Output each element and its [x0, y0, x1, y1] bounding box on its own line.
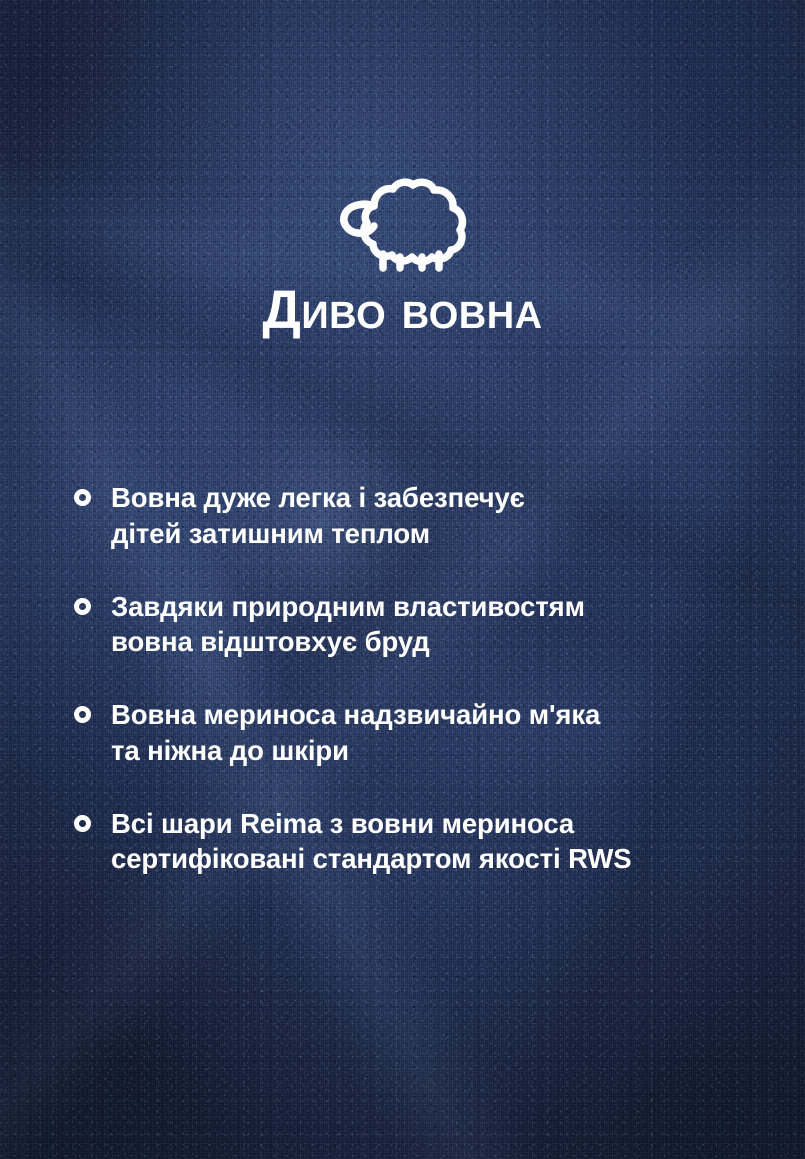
sheep-icon: [0, 178, 805, 272]
list-item-label: Всі шари Reima з вовни мериноса сертифік…: [111, 806, 632, 878]
bullet-ring-icon: [74, 706, 91, 723]
wool-feature-poster: Диво вовна Вовна дуже легка і забезпечує…: [0, 0, 805, 1159]
list-item-label: Вовна дуже легка і забезпечує дітей зати…: [111, 480, 525, 552]
list-item: Завдяки природним властивостям вовна від…: [74, 589, 764, 661]
page-title: Диво вовна: [0, 283, 805, 337]
list-item: Всі шари Reima з вовни мериноса сертифік…: [74, 806, 764, 878]
list-item-label: Вовна мериноса надзвичайно м'яка та ніжн…: [111, 697, 600, 769]
feature-list: Вовна дуже легка і забезпечує дітей зати…: [74, 480, 764, 877]
bullet-ring-icon: [74, 489, 91, 506]
list-item: Вовна дуже легка і забезпечує дітей зати…: [74, 480, 764, 552]
list-item: Вовна мериноса надзвичайно м'яка та ніжн…: [74, 697, 764, 769]
bullet-ring-icon: [74, 815, 91, 832]
list-item-label: Завдяки природним властивостям вовна від…: [111, 589, 585, 661]
bullet-ring-icon: [74, 598, 91, 615]
